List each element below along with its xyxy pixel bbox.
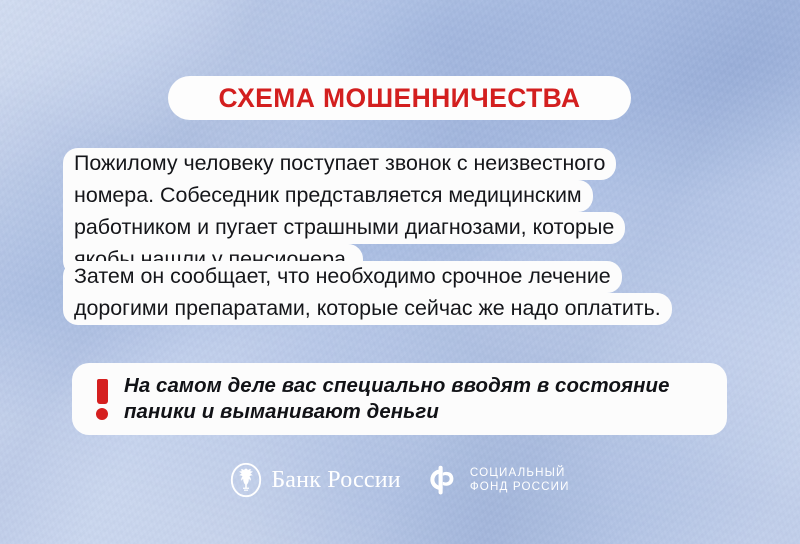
poster-canvas: СХЕМА МОШЕННИЧЕСТВА Пожилому человеку по… (0, 0, 800, 544)
paragraph-1-line: Пожилому человеку поступает звонок с неи… (63, 148, 616, 180)
warning-line: паники и выманивают деньги (124, 401, 439, 423)
social-fund-name-line-1: СОЦИАЛЬНЫЙ (470, 466, 570, 480)
paragraph-2-line: дорогими препаратами, которые сейчас же … (63, 293, 672, 325)
warning-line: На самом деле вас специально вводят в со… (124, 375, 670, 397)
paragraph-1-line: номера. Собеседник представляется медици… (63, 180, 593, 212)
logo-social-fund-of-russia: СОЦИАЛЬНЫЙ ФОНД РОССИИ (427, 463, 570, 497)
exclamation-dot (96, 408, 108, 420)
sfr-monogram-icon (427, 463, 461, 497)
double-headed-eagle-icon (230, 462, 262, 498)
exclamation-bar (97, 379, 108, 404)
title-pill: СХЕМА МОШЕННИЧЕСТВА (168, 76, 631, 120)
exclamation-mark-icon (93, 379, 115, 419)
paragraph-1: Пожилому человеку поступает звонок с неи… (63, 148, 625, 276)
footer-logos: Банк России СОЦИАЛЬНЫЙ ФОНД РОССИИ (0, 462, 800, 498)
paragraph-2: Затем он сообщает, что необходимо срочно… (63, 261, 672, 325)
logo-bank-of-russia: Банк России (230, 462, 400, 498)
paragraph-2-line: Затем он сообщает, что необходимо срочно… (63, 261, 622, 293)
warning-callout: На самом деле вас специально вводят в со… (72, 363, 727, 435)
paragraph-1-line: работником и пугает страшными диагнозами… (63, 212, 625, 244)
bank-of-russia-name: Банк России (271, 468, 400, 492)
social-fund-name-line-2: ФОНД РОССИИ (470, 480, 570, 494)
social-fund-name: СОЦИАЛЬНЫЙ ФОНД РОССИИ (470, 466, 570, 494)
warning-text: На самом деле вас специально вводят в со… (124, 373, 670, 425)
page-title: СХЕМА МОШЕННИЧЕСТВА (219, 85, 581, 112)
